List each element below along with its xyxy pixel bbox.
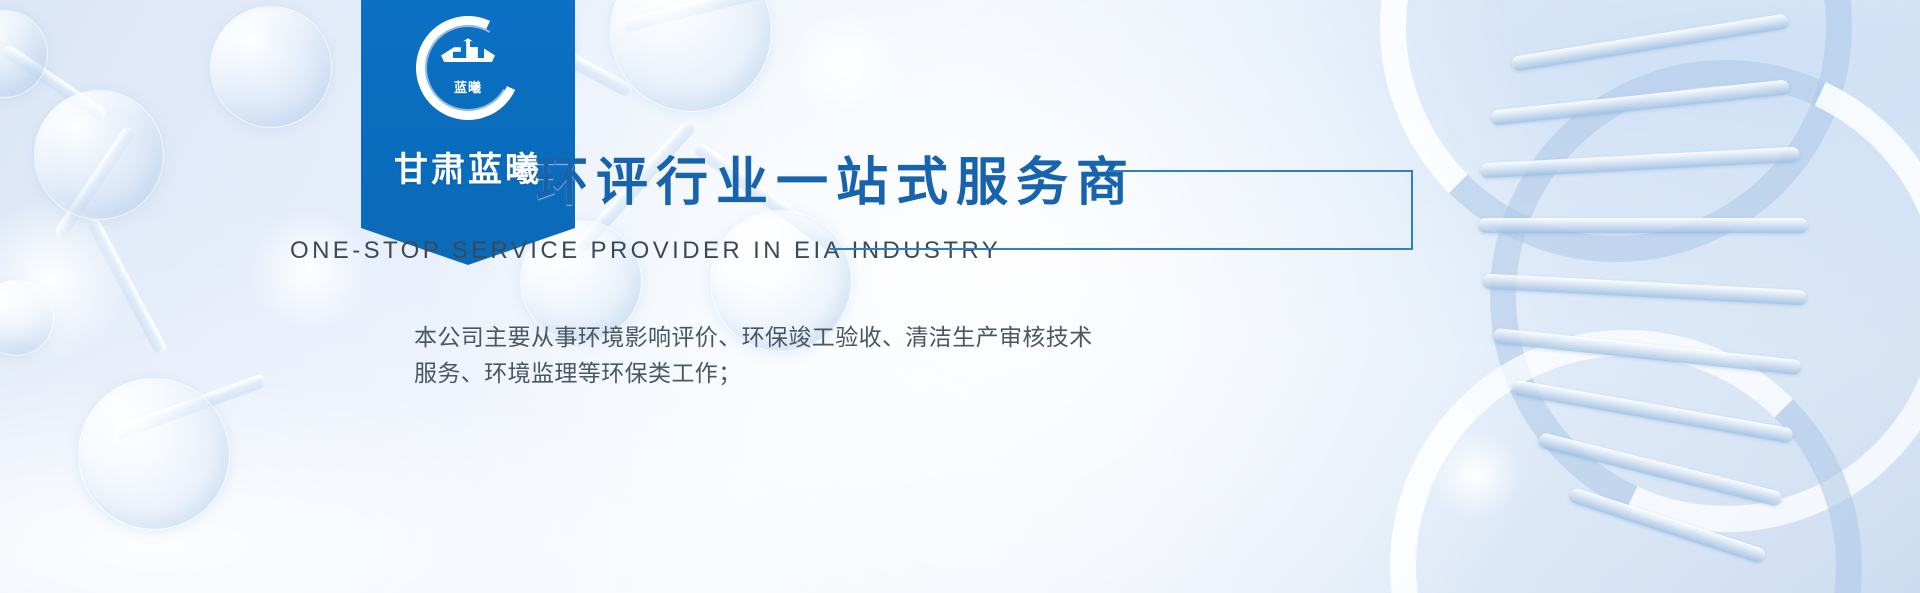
- paragraph-line: 服务、环境监理等环保类工作；: [414, 356, 1204, 392]
- molecule-bond: [621, 0, 780, 33]
- light-bokeh: [790, 10, 900, 120]
- molecule-cluster-graphic: [0, 0, 390, 540]
- molecule-bond: [53, 125, 136, 240]
- molecule-atom: [610, 0, 772, 112]
- molecule-bond: [112, 373, 267, 441]
- logo-ribbon: 蓝曦 甘肃蓝曦: [361, 0, 575, 265]
- molecule-atom: [34, 90, 164, 220]
- hero-headline: 环评行业一站式服务商: [536, 140, 1136, 215]
- molecule-atom: [0, 280, 54, 356]
- light-bokeh: [0, 200, 130, 360]
- bracket-connector-vertical: [1411, 170, 1413, 250]
- hero-subtitle-en: ONE-STOP SERVICE PROVIDER IN EIA INDUSTR…: [290, 237, 1001, 265]
- company-name-badge: 甘肃蓝曦: [394, 142, 542, 191]
- subtitle-rule-line: [830, 248, 1412, 250]
- molecule-atom: [0, 10, 48, 98]
- dna-rung: [1478, 218, 1808, 233]
- hero-banner: 蓝曦 甘肃蓝曦 环评行业一站式服务商 ONE-STOP SERVICE PROV…: [0, 0, 1920, 593]
- molecule-bond: [1, 44, 108, 122]
- logo-emblem-icon: [441, 32, 495, 62]
- paragraph-line: 本公司主要从事环境影响评价、环保竣工验收、清洁生产审核技术: [414, 320, 1204, 356]
- company-logo-icon: 蓝曦: [416, 16, 520, 120]
- molecule-atom: [210, 6, 332, 128]
- hero-paragraph: 本公司主要从事环境影响评价、环保竣工验收、清洁生产审核技术 服务、环境监理等环保…: [414, 320, 1204, 392]
- bracket-connector-horizontal: [1108, 170, 1413, 172]
- molecule-bond: [86, 217, 168, 356]
- dna-helix-graphic: [1360, 0, 1920, 593]
- logo-sub-text: 蓝曦: [454, 77, 482, 96]
- logo-book-shape-icon: [441, 38, 495, 62]
- light-bokeh: [250, 210, 370, 330]
- molecule-atom: [78, 378, 230, 530]
